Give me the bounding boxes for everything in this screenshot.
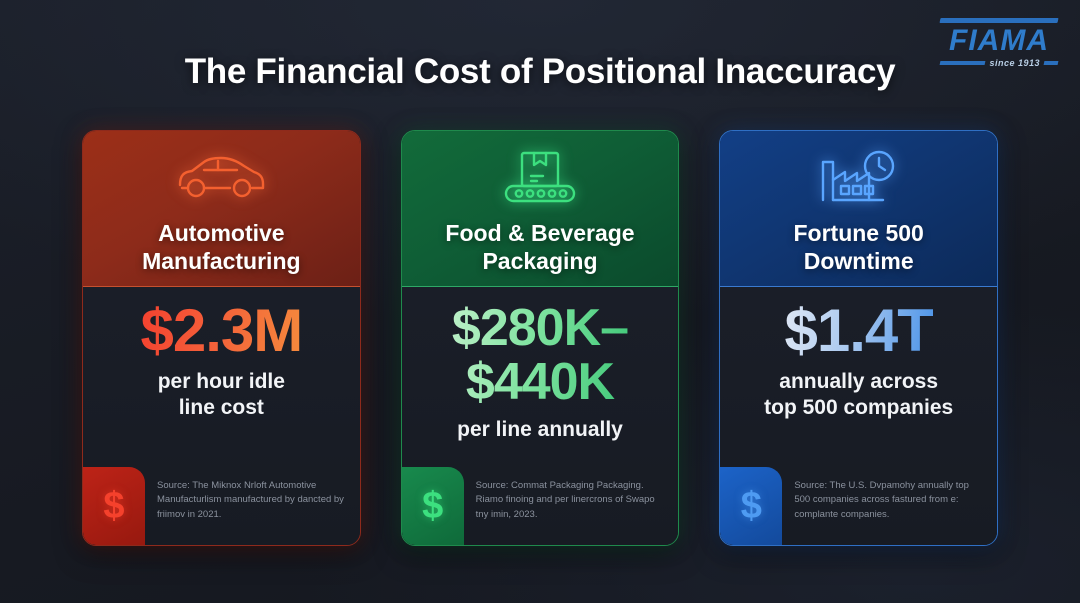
card-title-food-beverage: Food & Beverage Packaging	[435, 219, 644, 275]
dollar-badge-icon: $	[720, 467, 782, 545]
source-strip-food-beverage: $ Source: Commat Packaging Packaging. Ri…	[402, 467, 679, 545]
stat-value-food-beverage: $280K– $440K	[452, 301, 628, 409]
stat-value-line1: $280K–	[452, 301, 628, 355]
card-body-fortune500: $1.4T annually across top 500 companies …	[720, 287, 997, 545]
card-title-fortune500: Fortune 500 Downtime	[783, 219, 933, 275]
car-icon	[174, 145, 268, 211]
stat-caption-automotive: per hour idle line cost	[158, 369, 285, 422]
card-header-fortune500: Fortune 500 Downtime	[720, 131, 997, 287]
card-header-food-beverage: Food & Beverage Packaging	[402, 131, 679, 287]
dollar-symbol: $	[103, 487, 124, 525]
factory-clock-icon	[817, 145, 901, 211]
dollar-symbol: $	[741, 487, 762, 525]
stat-caption-fortune500: annually across top 500 companies	[764, 369, 953, 422]
stat-card-fortune500[interactable]: Fortune 500 Downtime $1.4T annually acro…	[719, 130, 998, 546]
dollar-badge-icon: $	[83, 467, 145, 545]
source-text-food-beverage: Source: Commat Packaging Packaging. Riam…	[464, 467, 679, 545]
logo-top-bar	[939, 18, 1058, 23]
card-title-line1: Food & Beverage	[445, 219, 634, 247]
stat-caption-line1: annually across	[764, 369, 953, 395]
source-strip-automotive: $ Source: The Miknox Nrloft Automotive M…	[83, 467, 360, 545]
card-body-food-beverage: $280K– $440K per line annually $ Source:…	[402, 287, 679, 545]
stat-value-fortune500: $1.4T	[784, 301, 932, 361]
stat-card-row: Automotive Manufacturing $2.3M per hour …	[82, 130, 998, 546]
stat-caption-line2: line cost	[158, 395, 285, 421]
stat-caption-line1: per hour idle	[158, 369, 285, 395]
source-text-automotive: Source: The Miknox Nrloft Automotive Man…	[145, 467, 360, 545]
card-title-line2: Packaging	[445, 247, 634, 275]
stat-caption-food-beverage: per line annually	[457, 417, 623, 443]
page-title: The Financial Cost of Positional Inaccur…	[0, 52, 1080, 92]
stat-card-food-beverage[interactable]: Food & Beverage Packaging $280K– $440K p…	[401, 130, 680, 546]
conveyor-box-icon	[498, 145, 582, 211]
stat-caption-line1: per line annually	[457, 417, 623, 443]
card-title-line1: Fortune 500	[793, 219, 923, 247]
dollar-badge-icon: $	[402, 467, 464, 545]
card-body-automotive: $2.3M per hour idle line cost $ Source: …	[83, 287, 360, 545]
dollar-symbol: $	[422, 487, 443, 525]
card-title-automotive: Automotive Manufacturing	[132, 219, 310, 275]
source-strip-fortune500: $ Source: The U.S. Dvpamohy annually top…	[720, 467, 997, 545]
card-title-line2: Manufacturing	[142, 247, 300, 275]
stat-value-line2: $440K	[452, 355, 628, 409]
card-title-line2: Downtime	[793, 247, 923, 275]
stat-card-automotive[interactable]: Automotive Manufacturing $2.3M per hour …	[82, 130, 361, 546]
stat-caption-line2: top 500 companies	[764, 395, 953, 421]
source-text-fortune500: Source: The U.S. Dvpamohy annually top 5…	[782, 467, 997, 545]
stat-value-automotive: $2.3M	[140, 301, 302, 361]
card-header-automotive: Automotive Manufacturing	[83, 131, 360, 287]
card-title-line1: Automotive	[142, 219, 300, 247]
